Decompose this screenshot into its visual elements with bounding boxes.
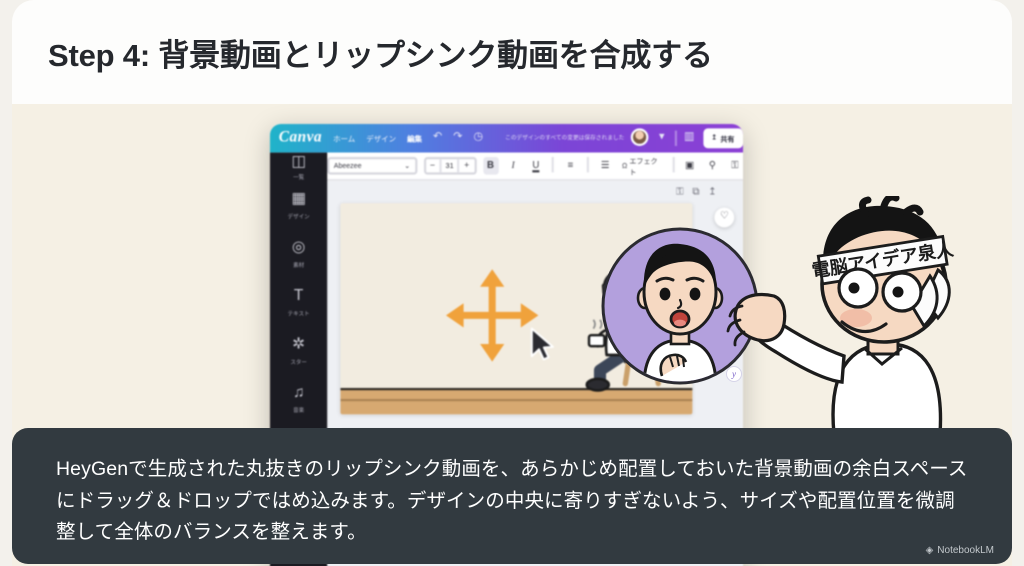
sidebar-item-star[interactable]: ✲ スター — [270, 328, 327, 376]
caption-text: HeyGenで生成された丸抜きのリップシンク動画を、あらかじめ配置しておいた背景… — [56, 454, 968, 549]
effects-button[interactable]: Ω エフェクト — [620, 154, 663, 176]
mouse-cursor — [530, 325, 550, 351]
list-icon[interactable]: ☰ — [597, 156, 613, 174]
logo-badge: y — [726, 366, 742, 382]
notebooklm-watermark: ◈ NotebookLM — [926, 545, 994, 556]
font-size-stepper[interactable]: − 31 + — [423, 156, 476, 174]
share-button[interactable]: ↥ 共有 — [702, 128, 743, 148]
effects-icon: Ω — [622, 160, 627, 169]
font-size-increase-button[interactable]: + — [460, 158, 474, 171]
duplicate-icon[interactable]: ⧉ — [692, 185, 699, 198]
chevron-down-icon: ⌄ — [404, 160, 410, 169]
mascot-character: 電脳アイデア泉人 — [716, 196, 1016, 436]
notebooklm-icon: ◈ — [926, 545, 934, 556]
canva-topbar: Canva ホーム デザイン 編集 ↶ ↷ ◷ このデザインのすべての変更は保存… — [270, 124, 743, 152]
share-button-label: 共有 — [720, 132, 734, 143]
toolbar-separator — [553, 157, 554, 172]
canva-toolbar: Abeezee ⌄ − 31 + B I U ≡ ☰ Ω エフェクト — [270, 152, 743, 181]
align-icon[interactable]: ≡ — [562, 156, 578, 174]
sidebar-item-design[interactable]: ▦ デザイン — [270, 182, 327, 230]
chevron-down-icon[interactable]: ▾ — [655, 131, 668, 144]
canvas-tools: ⚿ ⧉ ↥ — [676, 185, 717, 198]
move-arrows-indicator — [442, 264, 543, 365]
sidebar-item-label: 音楽 — [293, 405, 304, 414]
analytics-icon[interactable]: ▥ — [683, 131, 696, 144]
lock-icon[interactable]: ⚿ — [676, 185, 684, 198]
menu-item-home[interactable]: ホーム — [333, 132, 355, 143]
topbar-right: このデザインのすべての変更は保存されました ▾ ▥ ↥ 共有 — [505, 128, 743, 148]
font-size-decrease-button[interactable]: − — [426, 158, 440, 171]
position-icon[interactable]: ⚲ — [704, 156, 720, 174]
sidebar-item-label: スター — [290, 356, 307, 365]
effects-label: エフェクト — [629, 154, 660, 176]
avatar[interactable] — [631, 129, 649, 147]
font-size-value[interactable]: 31 — [439, 158, 459, 171]
elements-icon: ◎ — [292, 241, 305, 256]
sidebar-item-label: 素材 — [293, 260, 304, 269]
save-status-text: このデザインのすべての変更は保存されました — [505, 133, 624, 142]
history-icon[interactable]: ◷ — [474, 131, 484, 144]
star-icon: ✲ — [292, 338, 305, 353]
canva-logo: Canva — [279, 129, 322, 147]
sidebar-toggle-label: 一覧 — [293, 173, 304, 182]
share-upload-icon: ↥ — [711, 133, 717, 142]
redo-icon[interactable]: ↷ — [453, 131, 462, 144]
undo-icon[interactable]: ↶ — [433, 131, 442, 144]
lock-icon[interactable]: ⚿ — [727, 156, 743, 174]
font-family-value: Abeezee — [334, 160, 362, 169]
design-icon: ▦ — [291, 193, 306, 208]
sidebar-item-text[interactable]: T テキスト — [270, 279, 327, 327]
slide: Step 4: 背景動画とリップシンク動画を合成する Canva ホーム デザイ… — [0, 0, 1024, 566]
sidebar-toggle[interactable]: ◫ 一覧 — [270, 154, 327, 183]
text-icon: T — [294, 290, 303, 305]
caption-panel: HeyGenで生成された丸抜きのリップシンク動画を、あらかじめ配置しておいた背景… — [12, 428, 1012, 564]
menu-item-edit[interactable]: 編集 — [407, 132, 422, 143]
italic-button[interactable]: I — [505, 156, 521, 174]
notebooklm-label: NotebookLM — [937, 545, 994, 556]
underline-button[interactable]: U — [528, 156, 544, 174]
music-icon: ♫ — [293, 387, 305, 402]
sidebar-item-audio[interactable]: ♫ 音楽 — [270, 376, 327, 424]
topbar-divider — [675, 130, 676, 145]
toolbar-separator — [672, 157, 673, 172]
font-family-select[interactable]: Abeezee ⌄ — [327, 156, 417, 174]
page-title: Step 4: 背景動画とリップシンク動画を合成する — [48, 30, 713, 75]
panel-toggle-icon: ◫ — [291, 155, 306, 170]
sidebar-item-label: テキスト — [288, 308, 310, 317]
sidebar-item-elements[interactable]: ◎ 素材 — [270, 231, 327, 279]
slide-header: Step 4: 背景動画とリップシンク動画を合成する — [12, 0, 1012, 104]
toolbar-separator — [587, 157, 588, 172]
animate-icon[interactable]: ▣ — [682, 156, 698, 174]
sidebar-item-label: デザイン — [288, 211, 310, 220]
bold-button[interactable]: B — [483, 156, 499, 174]
menu-item-design[interactable]: デザイン — [366, 132, 396, 143]
